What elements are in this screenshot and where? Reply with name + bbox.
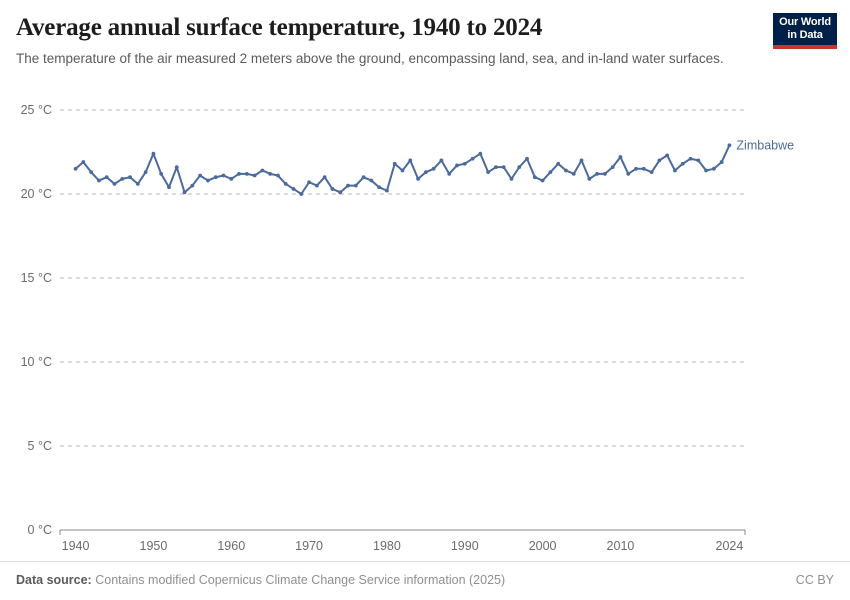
data-point[interactable] [611, 165, 615, 169]
data-point[interactable] [440, 159, 444, 163]
data-point[interactable] [564, 169, 568, 173]
data-source-text: Contains modified Copernicus Climate Cha… [95, 573, 505, 587]
data-point[interactable] [369, 179, 373, 183]
data-point[interactable] [377, 185, 381, 189]
data-point[interactable] [626, 172, 630, 176]
data-point[interactable] [665, 153, 669, 157]
data-point[interactable] [105, 175, 109, 179]
data-point[interactable] [190, 184, 194, 188]
x-axis-tick-label: 1980 [373, 539, 401, 553]
data-point[interactable] [541, 179, 545, 183]
x-axis-tick-label: 1990 [451, 539, 479, 553]
data-point[interactable] [331, 187, 335, 191]
data-point[interactable] [463, 162, 467, 166]
data-point[interactable] [556, 162, 560, 166]
y-axis-tick-label: 15 °C [21, 271, 52, 285]
y-axis-tick-label: 0 °C [28, 523, 52, 537]
data-point[interactable] [385, 189, 389, 193]
data-point[interactable] [408, 159, 412, 163]
data-point[interactable] [580, 159, 584, 163]
x-axis-tick-label: 1950 [140, 539, 168, 553]
data-point[interactable] [323, 175, 327, 179]
y-axis-tick-labels: 0 °C5 °C10 °C15 °C20 °C25 °C [21, 103, 52, 537]
data-point[interactable] [354, 184, 358, 188]
x-axis-tick-label: 1960 [217, 539, 245, 553]
our-world-in-data-logo[interactable]: Our World in Data [773, 13, 837, 49]
data-point[interactable] [657, 159, 661, 163]
data-point[interactable] [681, 162, 685, 166]
data-point[interactable] [689, 157, 693, 161]
logo-line-1: Our World [773, 16, 837, 29]
data-point[interactable] [152, 152, 156, 156]
data-point[interactable] [619, 155, 623, 159]
data-point[interactable] [603, 172, 607, 176]
data-point[interactable] [478, 152, 482, 156]
data-point[interactable] [284, 182, 288, 186]
data-point[interactable] [712, 167, 716, 171]
data-point[interactable] [268, 172, 272, 176]
y-axis-tick-label: 25 °C [21, 103, 52, 117]
y-axis-tick-label: 5 °C [28, 439, 52, 453]
data-source: Data source: Contains modified Copernicu… [16, 573, 505, 587]
data-point[interactable] [447, 172, 451, 176]
data-point[interactable] [299, 192, 303, 196]
data-point[interactable] [486, 170, 490, 174]
chart-header: Average annual surface temperature, 1940… [16, 14, 756, 68]
x-axis-tick-label: 2000 [529, 539, 557, 553]
data-point[interactable] [120, 177, 124, 181]
data-point[interactable] [307, 180, 311, 184]
series-group[interactable] [74, 143, 732, 196]
data-point[interactable] [720, 160, 724, 164]
data-point[interactable] [128, 175, 132, 179]
data-point[interactable] [549, 170, 553, 174]
data-point[interactable] [253, 174, 257, 178]
logo-line-2: in Data [773, 29, 837, 42]
data-point[interactable] [696, 159, 700, 163]
chart-subtitle: The temperature of the air measured 2 me… [16, 50, 726, 68]
data-point[interactable] [572, 172, 576, 176]
data-point[interactable] [634, 167, 638, 171]
data-point[interactable] [276, 174, 280, 178]
data-point[interactable] [89, 170, 93, 174]
data-point[interactable] [214, 175, 218, 179]
data-point[interactable] [206, 179, 210, 183]
data-point[interactable] [704, 169, 708, 173]
data-point[interactable] [315, 184, 319, 188]
data-point[interactable] [237, 172, 241, 176]
data-point[interactable] [393, 162, 397, 166]
data-point[interactable] [455, 164, 459, 168]
data-point[interactable] [471, 157, 475, 161]
data-point[interactable] [175, 165, 179, 169]
data-point[interactable] [642, 167, 646, 171]
data-point[interactable] [292, 187, 296, 191]
data-point[interactable] [144, 170, 148, 174]
data-source-label: Data source: [16, 573, 92, 587]
data-point[interactable] [198, 174, 202, 178]
y-axis-tick-label: 20 °C [21, 187, 52, 201]
data-point[interactable] [533, 175, 537, 179]
data-point[interactable] [183, 190, 187, 194]
data-point[interactable] [74, 167, 78, 171]
data-point[interactable] [650, 170, 654, 174]
data-point[interactable] [587, 177, 591, 181]
data-point[interactable] [167, 185, 171, 189]
data-point[interactable] [673, 169, 677, 173]
data-point[interactable] [229, 177, 233, 181]
y-axis-tick-label: 10 °C [21, 355, 52, 369]
data-point[interactable] [510, 177, 514, 181]
plot-area: 0 °C5 °C10 °C15 °C20 °C25 °C 19401950196… [0, 96, 850, 556]
data-point[interactable] [136, 182, 140, 186]
x-axis-tick-labels: 194019501960197019801990200020102024 [62, 539, 744, 553]
data-point[interactable] [222, 174, 226, 178]
data-point[interactable] [260, 169, 264, 173]
page-title: Average annual surface temperature, 1940… [16, 14, 756, 42]
data-point[interactable] [401, 169, 405, 173]
data-point[interactable] [362, 175, 366, 179]
data-point[interactable] [245, 172, 249, 176]
logo-accent-bar [773, 45, 837, 49]
data-point[interactable] [113, 182, 117, 186]
series-label-zimbabwe[interactable]: Zimbabwe [736, 138, 794, 152]
data-point[interactable] [81, 160, 85, 164]
x-axis-tick-label: 2024 [716, 539, 744, 553]
data-point[interactable] [416, 177, 420, 181]
x-axis-tick-label: 1970 [295, 539, 323, 553]
chart-footer: Data source: Contains modified Copernicu… [0, 561, 850, 600]
data-point[interactable] [159, 172, 163, 176]
data-point[interactable] [346, 184, 350, 188]
x-axis-tick-label: 1940 [62, 539, 90, 553]
data-point[interactable] [494, 165, 498, 169]
data-point[interactable] [502, 165, 506, 169]
data-point[interactable] [728, 143, 732, 147]
data-point[interactable] [595, 172, 599, 176]
data-point[interactable] [424, 170, 428, 174]
data-point[interactable] [338, 190, 342, 194]
x-axis-group [60, 530, 745, 535]
data-point[interactable] [432, 167, 436, 171]
data-point[interactable] [97, 179, 101, 183]
x-axis-tick-label: 2010 [607, 539, 635, 553]
license-label[interactable]: CC BY [796, 573, 834, 587]
data-point[interactable] [525, 157, 529, 161]
data-point[interactable] [517, 165, 521, 169]
series-label-group[interactable]: Zimbabwe [736, 138, 794, 152]
chart-container: Average annual surface temperature, 1940… [0, 0, 850, 600]
line-chart-svg[interactable]: 0 °C5 °C10 °C15 °C20 °C25 °C 19401950196… [0, 96, 850, 556]
